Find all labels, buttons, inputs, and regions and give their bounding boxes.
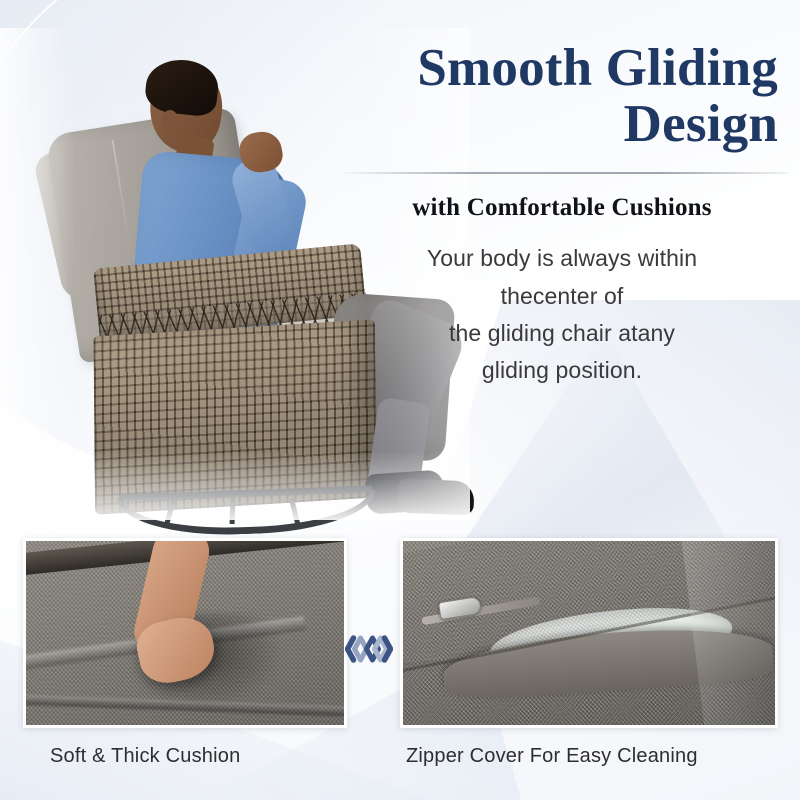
headline-line-1: Smooth Gliding (417, 39, 778, 97)
body-line: Your body is always within (336, 240, 788, 277)
body-line: gliding position. (336, 352, 788, 389)
body-copy: Your body is always within thecenter of … (336, 240, 788, 389)
caption-soft-thick-cushion: Soft & Thick Cushion (50, 745, 240, 768)
body-line: thecenter of (336, 278, 788, 315)
caption-zipper-cover: Zipper Cover For Easy Cleaning (406, 745, 698, 768)
feature-panel-soft-thick-cushion (23, 538, 347, 728)
subtitle: with Comfortable Cushions (336, 194, 788, 222)
page-title: Smooth Gliding Design (336, 40, 788, 152)
title-divider (336, 172, 788, 174)
headline-line-2: Design (624, 95, 778, 153)
chevron-diamond-divider-icon (345, 632, 393, 666)
product-feature-poster: Smooth Gliding Design with Comfortable C… (0, 0, 800, 800)
copy-block: Smooth Gliding Design with Comfortable C… (336, 40, 788, 389)
body-line: the gliding chair atany (336, 315, 788, 352)
feature-panel-zipper-cover (400, 538, 778, 728)
